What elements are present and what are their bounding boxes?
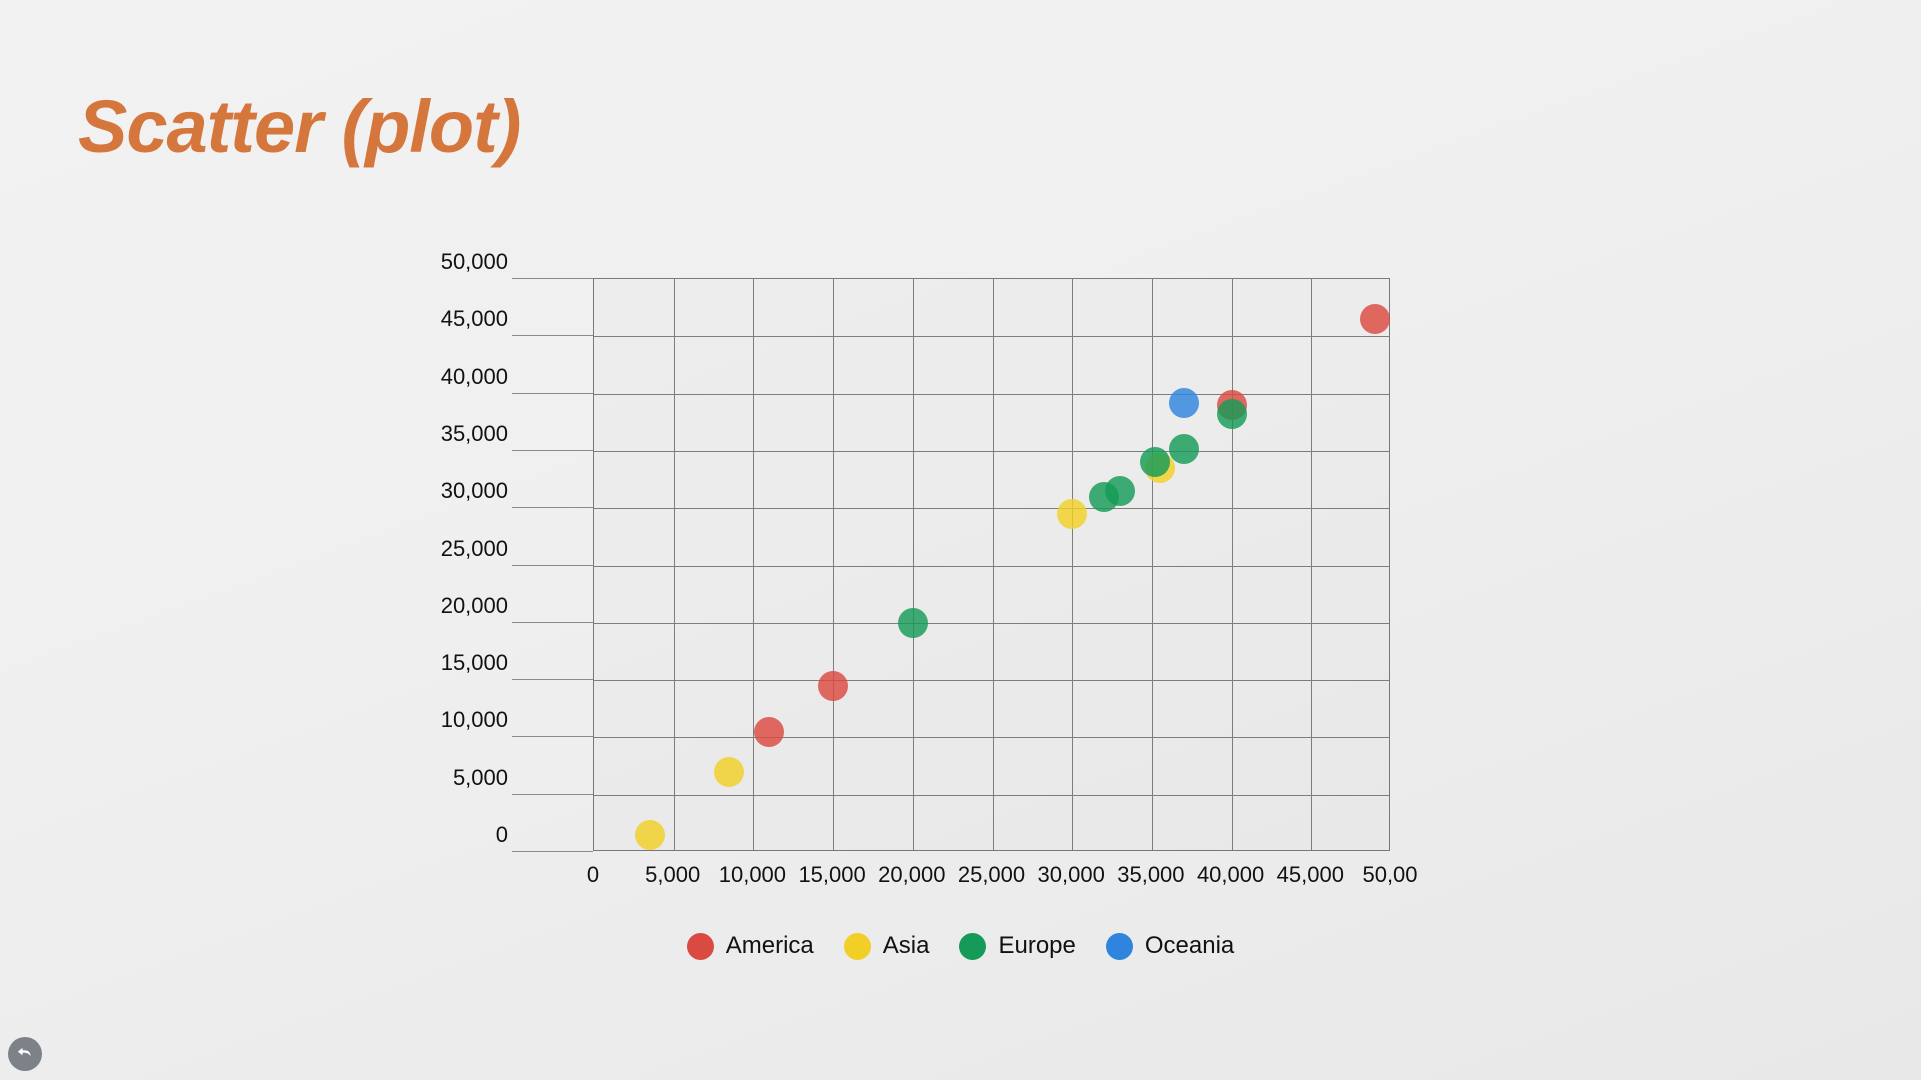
y-axis-tick-line xyxy=(512,335,593,336)
back-button[interactable] xyxy=(8,1037,42,1071)
gridline-vertical xyxy=(993,279,994,850)
y-axis-tick-label: 40,000 xyxy=(441,364,508,393)
y-axis-tick-line xyxy=(512,794,593,795)
gridline-vertical xyxy=(674,279,675,850)
y-axis-tick-label: 30,000 xyxy=(441,478,508,507)
x-axis-tick-label: 40,000 xyxy=(1197,862,1264,888)
gridline-vertical xyxy=(913,279,914,850)
scatter-chart[interactable]: 05,00010,00015,00020,00025,00030,00035,0… xyxy=(0,0,1921,1080)
data-point[interactable] xyxy=(635,820,665,850)
legend-item-america[interactable]: America xyxy=(687,932,814,960)
y-axis-tick-label: 0 xyxy=(496,822,508,851)
y-axis-tick-label: 5,000 xyxy=(453,765,508,794)
gridline-vertical xyxy=(1232,279,1233,850)
gridline-vertical xyxy=(1152,279,1153,850)
gridline-horizontal xyxy=(594,680,1389,681)
gridline-vertical xyxy=(753,279,754,850)
legend-label: Asia xyxy=(883,932,930,960)
y-axis-tick-line xyxy=(512,679,593,680)
gridline-horizontal xyxy=(594,737,1389,738)
gridline-horizontal xyxy=(594,336,1389,337)
legend-item-asia[interactable]: Asia xyxy=(844,932,930,960)
legend-swatch-icon xyxy=(1106,933,1133,960)
legend-item-oceania[interactable]: Oceania xyxy=(1106,932,1234,960)
y-axis-tick-label: 45,000 xyxy=(441,306,508,335)
y-axis-tick-label: 15,000 xyxy=(441,650,508,679)
x-axis-tick-label: 45,000 xyxy=(1277,862,1344,888)
undo-arrow-icon xyxy=(15,1042,35,1067)
data-point[interactable] xyxy=(1360,304,1390,334)
x-axis-tick-label: 35,000 xyxy=(1117,862,1184,888)
y-axis-tick-line xyxy=(512,450,593,451)
x-axis-tick-label: 30,000 xyxy=(1038,862,1105,888)
data-point[interactable] xyxy=(714,757,744,787)
x-axis-tick-label: 0 xyxy=(587,862,599,888)
legend-label: Oceania xyxy=(1145,932,1234,960)
legend-item-europe[interactable]: Europe xyxy=(959,932,1075,960)
y-axis-tick-label: 10,000 xyxy=(441,707,508,736)
gridline-horizontal xyxy=(594,508,1389,509)
legend-swatch-icon xyxy=(844,933,871,960)
data-point[interactable] xyxy=(1057,499,1087,529)
gridline-vertical xyxy=(1311,279,1312,850)
data-point[interactable] xyxy=(1169,434,1199,464)
gridline-horizontal xyxy=(594,394,1389,395)
chart-legend[interactable]: AmericaAsiaEuropeOceania xyxy=(0,932,1921,960)
y-axis-tick-label: 25,000 xyxy=(441,536,508,565)
y-axis-tick-line xyxy=(512,393,593,394)
gridline-horizontal xyxy=(594,795,1389,796)
legend-swatch-icon xyxy=(959,933,986,960)
gridline-vertical xyxy=(833,279,834,850)
x-axis-tick-label: 15,000 xyxy=(798,862,865,888)
x-axis-tick-label: 25,000 xyxy=(958,862,1025,888)
data-point[interactable] xyxy=(818,671,848,701)
y-axis-tick-line xyxy=(512,736,593,737)
x-axis-tick-label: 20,000 xyxy=(878,862,945,888)
y-axis-tick-line xyxy=(512,622,593,623)
y-axis-tick-line xyxy=(512,278,593,279)
legend-label: Europe xyxy=(998,932,1075,960)
y-axis-tick-line xyxy=(512,851,593,852)
y-axis-tick-label: 20,000 xyxy=(441,593,508,622)
plot-area xyxy=(593,278,1390,851)
y-axis-tick-line xyxy=(512,565,593,566)
x-axis-tick-label: 10,000 xyxy=(719,862,786,888)
data-point[interactable] xyxy=(1217,399,1247,429)
data-point[interactable] xyxy=(1140,447,1170,477)
x-axis-tick-label: 5,000 xyxy=(645,862,700,888)
legend-label: America xyxy=(726,932,814,960)
x-axis-tick-label: 50,00 xyxy=(1362,862,1417,888)
data-point[interactable] xyxy=(898,608,928,638)
data-point[interactable] xyxy=(1169,388,1199,418)
legend-swatch-icon xyxy=(687,933,714,960)
gridline-horizontal xyxy=(594,451,1389,452)
gridline-vertical xyxy=(1072,279,1073,850)
gridline-horizontal xyxy=(594,623,1389,624)
gridline-horizontal xyxy=(594,566,1389,567)
y-axis-tick-line xyxy=(512,507,593,508)
y-axis-tick-label: 50,000 xyxy=(441,249,508,278)
y-axis-tick-label: 35,000 xyxy=(441,421,508,450)
data-point[interactable] xyxy=(754,717,784,747)
data-point[interactable] xyxy=(1105,476,1135,506)
